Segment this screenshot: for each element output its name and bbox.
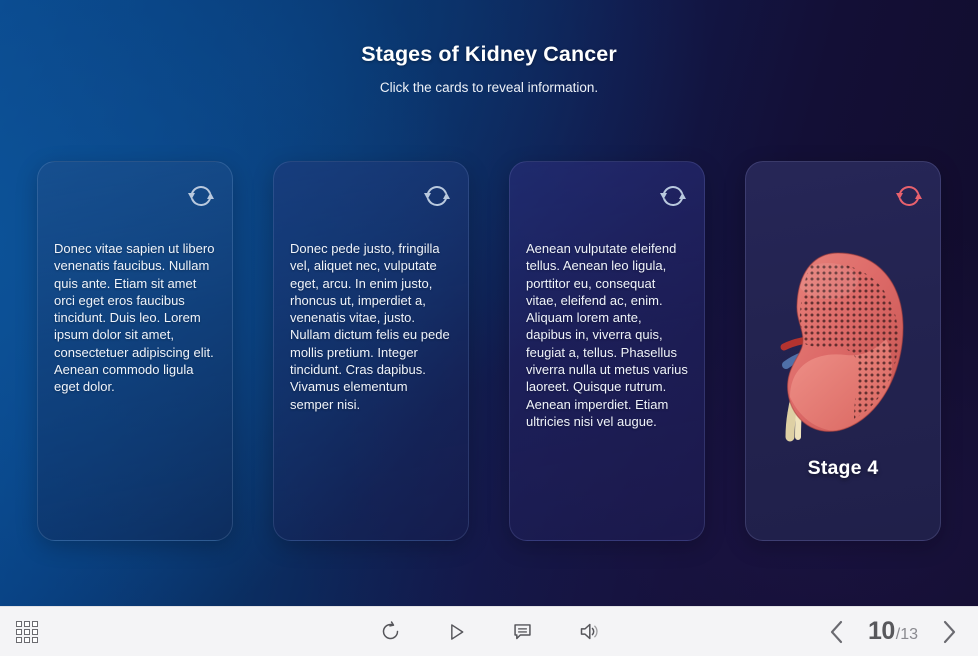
total-pages: /13 [896,626,918,644]
slide-canvas: Stages of Kidney Cancer Click the cards … [0,0,978,606]
replay-icon [380,621,401,642]
stage-label: Stage 4 [746,457,940,480]
volume-icon [578,621,599,642]
slide-subtitle: Click the cards to reveal information. [0,80,978,95]
slide-header: Stages of Kidney Cancer Click the cards … [0,0,978,95]
kidney-illustration [746,224,940,464]
presentation-player: Stages of Kidney Cancer Click the cards … [0,0,978,656]
next-slide-button[interactable] [934,617,964,647]
current-page: 10 [868,617,895,646]
flip-rotate-icon[interactable] [658,182,688,210]
card-body-text: Aenean vulputate eleifend tellus. Aenean… [526,240,690,430]
chevron-left-icon [827,620,847,644]
volume-button[interactable] [573,617,603,647]
play-icon [446,622,466,642]
replay-button[interactable] [375,617,405,647]
cards-row: Donec vitae sapien ut libero venenatis f… [37,161,941,541]
flip-rotate-icon[interactable] [186,182,216,210]
flip-card-2[interactable]: Donec pede justo, fringilla vel, aliquet… [273,161,469,541]
card-body-text: Donec vitae sapien ut libero venenatis f… [54,240,218,396]
chevron-right-icon [939,620,959,644]
card-body-text: Donec pede justo, fringilla vel, aliquet… [290,240,454,413]
flip-card-4[interactable]: Stage 4 [745,161,941,541]
player-toolbar: 10/13 [0,606,978,656]
page-counter: 10/13 [868,617,918,646]
toolbar-right-group: 10/13 [822,617,964,647]
notes-button[interactable] [507,617,537,647]
flip-card-3[interactable]: Aenean vulputate eleifend tellus. Aenean… [509,161,705,541]
flip-card-1[interactable]: Donec vitae sapien ut libero venenatis f… [37,161,233,541]
flip-rotate-icon[interactable] [894,182,924,210]
play-button[interactable] [441,617,471,647]
flip-rotate-icon[interactable] [422,182,452,210]
prev-slide-button[interactable] [822,617,852,647]
page-title: Stages of Kidney Cancer [0,42,978,67]
notes-icon [512,621,533,642]
